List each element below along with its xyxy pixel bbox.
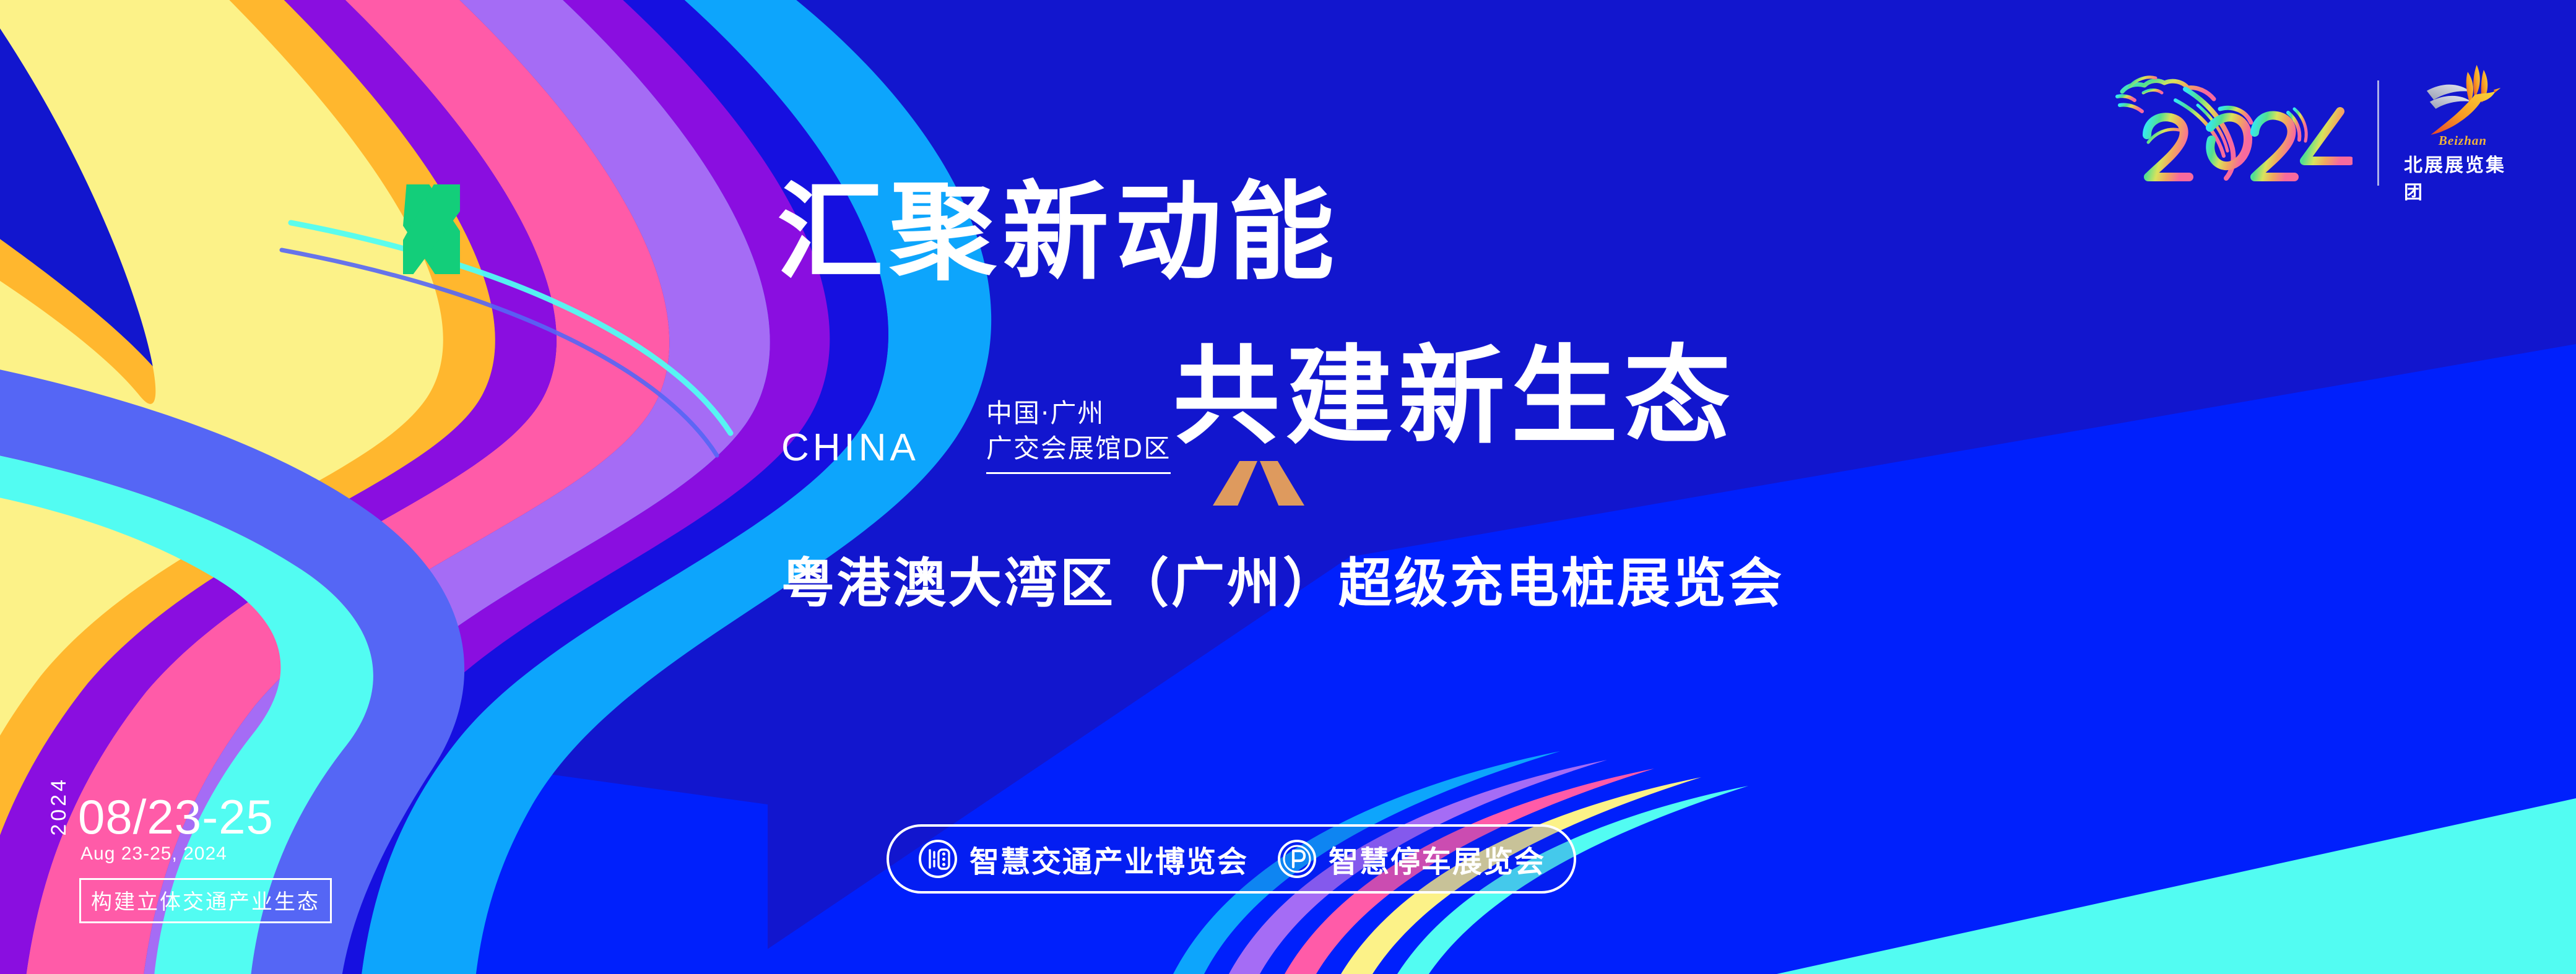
co-event-item-traffic[interactable]: 智慧交通产业博览会 xyxy=(917,837,1248,881)
parking-p-icon xyxy=(1277,838,1317,879)
co-event-label-traffic: 智慧交通产业博览会 xyxy=(969,837,1248,881)
organizer-script-label: Beizhan xyxy=(2439,133,2487,149)
date-block: 2024 08/23-25 Aug 23-25, 2024 构建立体交通产业生态 xyxy=(48,777,332,923)
country-label: CHINA xyxy=(781,426,919,470)
co-event-label-parking: 智慧停车展览会 xyxy=(1329,837,1545,881)
venue-block: 中国·广州 广交会展馆D区 xyxy=(986,396,1171,474)
organizer-logo: Beizhan 北展展览集团 xyxy=(2404,62,2522,204)
logo-divider xyxy=(2377,80,2379,186)
headline-line-1: 汇聚新动能 xyxy=(777,179,1340,286)
dragon-2024-logo-icon xyxy=(2111,68,2353,198)
traffic-signal-icon xyxy=(917,838,958,879)
organizer-name-label: 北展展览集团 xyxy=(2404,150,2522,204)
co-events-pill[interactable]: 智慧交通产业博览会 智慧停车展览会 xyxy=(887,824,1576,894)
headline-line-2: 共建新生态 xyxy=(1173,343,1737,450)
venue-city-label: 中国·广州 xyxy=(986,396,1171,431)
venue-hall-label: 广交会展馆D区 xyxy=(986,431,1171,475)
date-range: 08/23-25 xyxy=(78,794,274,840)
slogan-badge: 构建立体交通产业生态 xyxy=(79,878,332,923)
date-year-vertical: 2024 xyxy=(48,777,69,836)
co-event-item-parking[interactable]: 智慧停车展览会 xyxy=(1277,837,1545,881)
date-row: 2024 08/23-25 xyxy=(48,777,332,840)
logo-area: Beizhan 北展展览集团 xyxy=(2111,62,2522,204)
phoenix-icon xyxy=(2413,62,2512,137)
event-subtitle: 粤港澳大湾区（广州）超级充电桩展览会 xyxy=(781,540,1784,617)
exhibition-banner: 汇聚新动能 共建新生态 CHINA 中国·广州 广交会展馆D区 粤港澳大湾区（广… xyxy=(0,0,2576,974)
date-range-english: Aug 23-25, 2024 xyxy=(80,843,332,864)
